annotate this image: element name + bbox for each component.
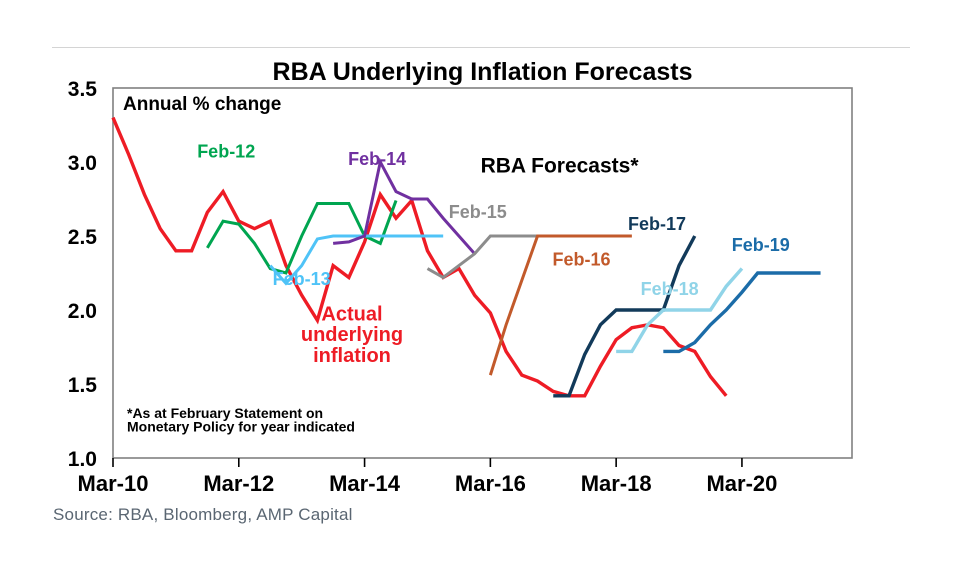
series-line-feb-15 <box>427 236 537 277</box>
x-tick-label: Mar-14 <box>329 471 401 496</box>
series-label-feb-17: Feb-17 <box>628 214 686 234</box>
y-tick-label: 2.0 <box>68 300 97 323</box>
y-tick-label: 3.0 <box>68 152 97 175</box>
x-tick-label: Mar-10 <box>78 471 149 496</box>
series-label-feb-14: Feb-14 <box>348 149 406 169</box>
actual-note-line3: inflation <box>313 345 391 367</box>
axis-note: Annual % change <box>123 94 281 115</box>
y-tick-label: 1.0 <box>68 448 97 471</box>
inflation-forecast-chart: RBA Underlying Inflation Forecasts1.01.5… <box>0 0 962 562</box>
source-note: Source: RBA, Bloomberg, AMP Capital <box>53 505 353 525</box>
footnote-line2: Monetary Policy for year indicated <box>127 418 355 434</box>
chart-title: RBA Underlying Inflation Forecasts <box>273 58 693 86</box>
y-tick-label: 3.5 <box>68 78 98 101</box>
x-tick-label: Mar-12 <box>203 471 274 496</box>
figure-page: RBA Underlying Inflation Forecasts1.01.5… <box>0 0 962 562</box>
series-label-feb-18: Feb-18 <box>641 279 699 299</box>
series-label-feb-12: Feb-12 <box>197 142 255 162</box>
series-label-feb-19: Feb-19 <box>732 235 790 255</box>
x-tick-label: Mar-20 <box>706 471 777 496</box>
actual-note-line2: underlying <box>301 324 403 346</box>
series-label-feb-13: Feb-13 <box>273 269 331 289</box>
y-tick-label: 2.5 <box>68 226 98 249</box>
x-tick-label: Mar-18 <box>581 471 652 496</box>
actual-note-line1: Actual <box>321 303 382 325</box>
x-tick-label: Mar-16 <box>455 471 526 496</box>
series-label-feb-16: Feb-16 <box>553 250 611 270</box>
forecasts-note: RBA Forecasts* <box>481 154 640 177</box>
y-tick-label: 1.5 <box>68 374 98 397</box>
series-label-feb-15: Feb-15 <box>449 202 507 222</box>
